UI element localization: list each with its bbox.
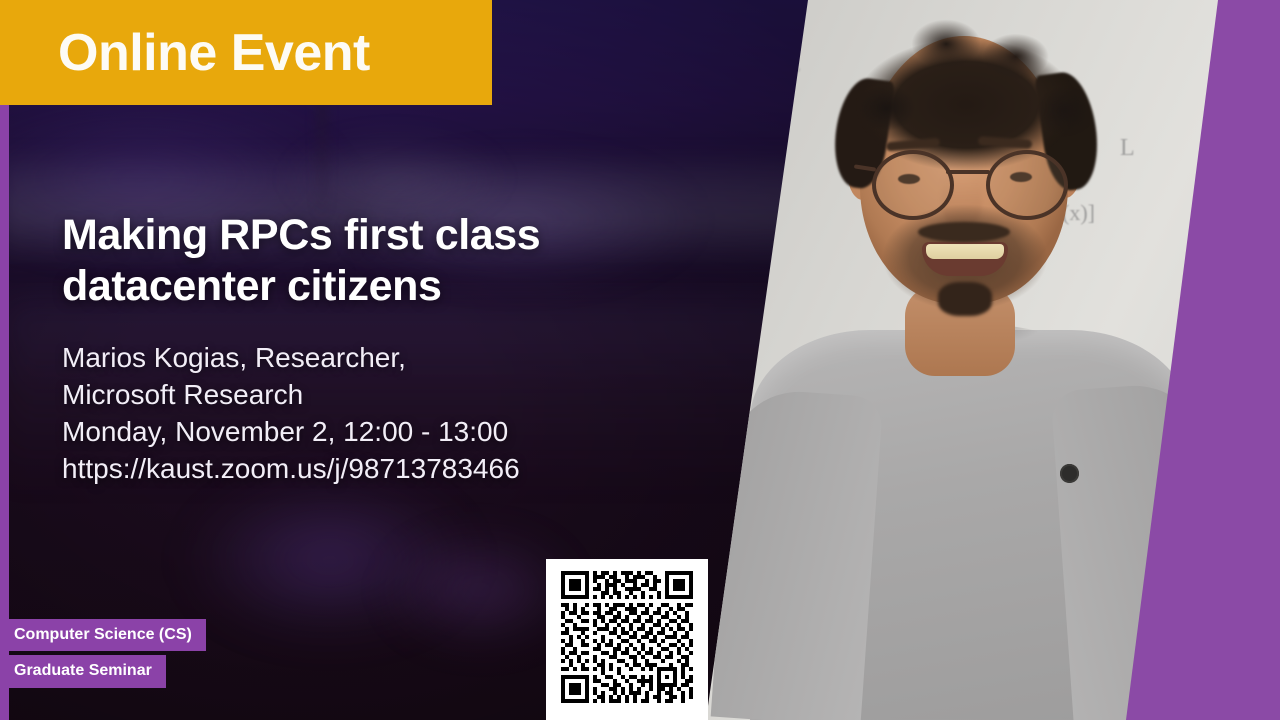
status-badge-series[interactable]: Graduate Seminar xyxy=(0,655,166,688)
speaker-name: Marios Kogias, Researcher, xyxy=(62,340,702,377)
event-zoom-link[interactable]: https://kaust.zoom.us/j/98713783466 xyxy=(62,451,702,488)
page-title-line-1: Making RPCs first class xyxy=(62,211,540,259)
qr-code-icon xyxy=(561,571,693,703)
category-badges: Computer Science (CS) Graduate Seminar xyxy=(0,619,206,688)
online-event-banner: Online Event xyxy=(0,0,492,105)
event-datetime: Monday, November 2, 12:00 - 13:00 xyxy=(62,414,702,451)
page-title-line-2: datacenter citizens xyxy=(62,262,442,310)
status-badge-department[interactable]: Computer Science (CS) xyxy=(0,619,206,652)
event-details: Marios Kogias, Researcher, Microsoft Res… xyxy=(62,340,702,488)
qr-code[interactable] xyxy=(546,559,708,720)
online-event-label: Online Event xyxy=(58,27,370,79)
speaker-affiliation: Microsoft Research xyxy=(62,377,702,414)
event-poster: ~ xC L og(x)] ┐ ┐ ┐ xyxy=(0,0,1280,720)
page-title: Making RPCs first class datacenter citiz… xyxy=(62,210,682,312)
